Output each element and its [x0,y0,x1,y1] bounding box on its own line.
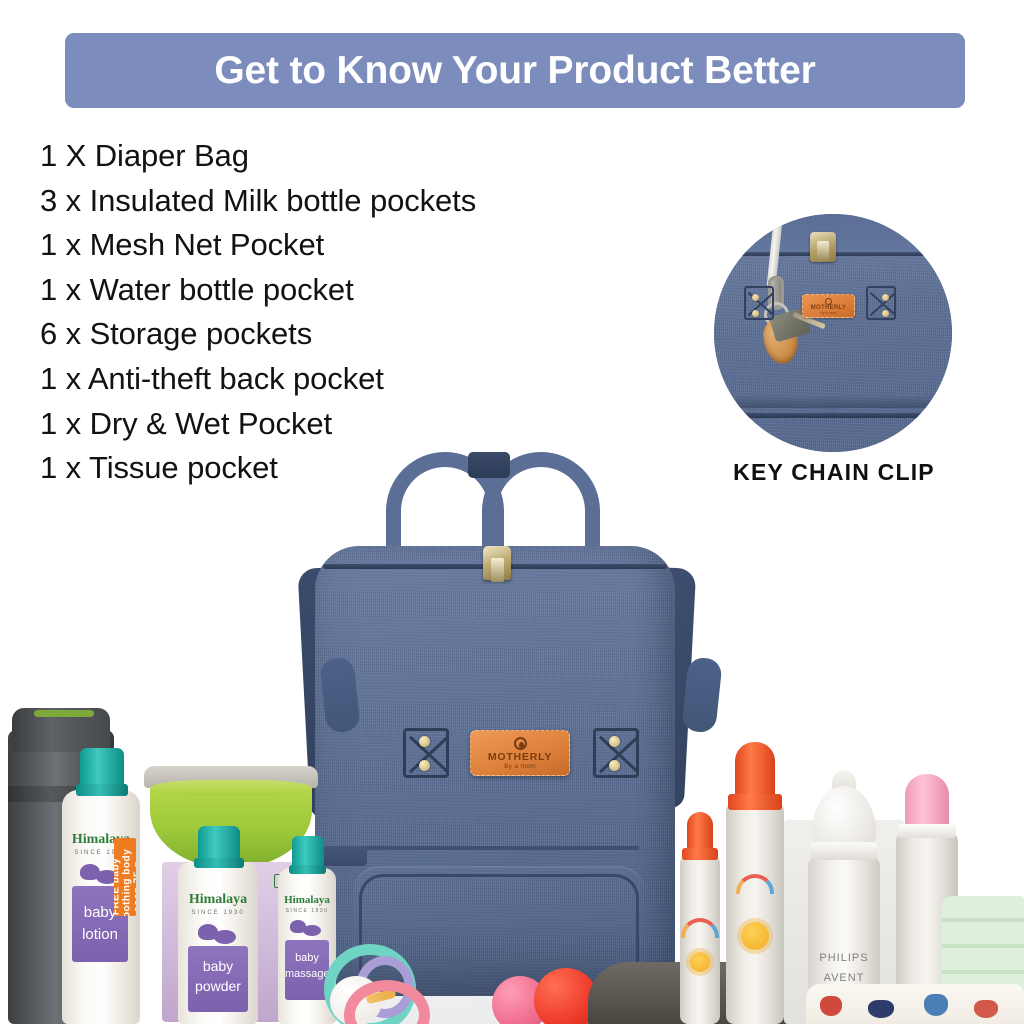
rivet-icon [882,310,889,317]
brand-label-patch: MOTHERLY By a mom [802,294,855,318]
product-line-2: massage [285,968,329,980]
infographic-canvas: Get to Know Your Product Better 1 X Diap… [0,0,1024,1024]
side-strap-loop [321,846,367,866]
brand-tagline: By a mom [820,311,836,315]
promo-text: FREE baby soothing body soap 75 g [114,848,136,917]
himalaya-baby-lotion-bottle: Himalaya SINCE 1930 baby lotion FREE bab… [62,790,140,1024]
inset-caption: KEY CHAIN CLIP [714,459,954,486]
brand-since: SINCE 1930 [178,910,258,916]
rivet-icon [419,736,430,747]
diaper-bag-product-photo: MOTHERLY By a mom [290,440,700,1000]
mother-child-logo-icon [514,737,527,750]
lion-graphic-icon [690,952,710,972]
bottle-neck [194,858,244,868]
cloth-print-motif [974,1000,998,1018]
cross-stitch-tab [866,286,896,320]
list-item: 1 x Mesh Net Pocket [40,223,680,268]
rivet-icon [419,760,430,771]
brand-tagline: By a mom [504,763,536,770]
product-line-1: baby [188,958,248,974]
keychain-detail-inset: MOTHERLY By a mom [714,214,952,452]
lion-graphic-icon [741,922,769,950]
mother-child-logo-icon [825,298,832,305]
cap-accent-stripe [34,710,94,717]
bag-bottom-seam [714,395,952,408]
product-line-2: lotion [72,926,128,943]
bottle-screw-ring [810,842,878,860]
product-line-1: baby [285,952,329,964]
printed-baby-cloth [806,984,1024,1024]
brand-label-patch: MOTHERLY By a mom [470,730,570,776]
brand-name: Himalaya [278,894,336,906]
page-title: Get to Know Your Product Better [214,49,815,93]
list-item: 1 X Diaper Bag [40,134,680,179]
handle-clasp [468,452,510,478]
zipper-track-icon [732,252,940,256]
product-name-panel: baby massage [285,940,329,1000]
baby-feeding-bottle-small [680,852,720,1024]
rivet-icon [752,310,759,317]
baby-illustration-icon [214,930,236,944]
zipper-pull-icon [810,232,836,262]
feature-list: 1 X Diaper Bag 3 x Insulated Milk bottle… [40,134,680,491]
baby-illustration-icon [303,925,321,936]
bottle-neck [289,865,326,874]
cloth-print-motif [924,994,948,1016]
bottle-collar [728,794,782,810]
rivet-icon [752,294,759,301]
free-promo-tag: FREE baby soothing body soap 75 g [114,838,136,916]
product-name-panel: baby powder [188,946,248,1012]
cloth-print-motif [868,1000,894,1018]
bottle-neck [76,784,128,796]
list-item: 3 x Insulated Milk bottle pockets [40,179,680,224]
bowl-rim [150,780,312,796]
cross-stitch-tab [744,286,774,320]
rivet-icon [882,294,889,301]
bag-frame-corner-left [319,656,361,733]
bag-frame-corner-right [681,656,723,733]
brand-line-1: PHILIPS [808,952,880,964]
list-item: 1 x Anti-theft back pocket [40,357,680,402]
circular-photo-crop: MOTHERLY By a mom [714,214,952,452]
bottle-collar [682,848,718,860]
header-banner: Get to Know Your Product Better [65,33,965,108]
pocket-seam [351,846,639,850]
bottle-collar [898,824,956,838]
brand-line-2: AVENT [808,972,880,984]
rivet-icon [609,760,620,771]
bottom-zipper-icon [736,413,930,418]
product-line-2: powder [188,978,248,994]
brand-name: Himalaya [178,892,258,908]
cloth-print-motif [820,996,842,1016]
baby-feeding-bottle-medium [726,800,784,1024]
list-item: 1 x Water bottle pocket [40,268,680,313]
rainbow-graphic-icon [681,918,719,938]
bag-body: MOTHERLY By a mom [315,546,675,996]
brand-since: SINCE 1930 [278,908,336,914]
main-zipper-pull-icon [483,546,511,580]
list-item: 6 x Storage pockets [40,312,680,357]
brand-name: MOTHERLY [488,751,552,763]
himalaya-baby-powder-bottle: Himalaya SINCE 1930 baby powder [178,862,258,1024]
rainbow-graphic-icon [736,874,774,894]
rivet-icon [609,736,620,747]
